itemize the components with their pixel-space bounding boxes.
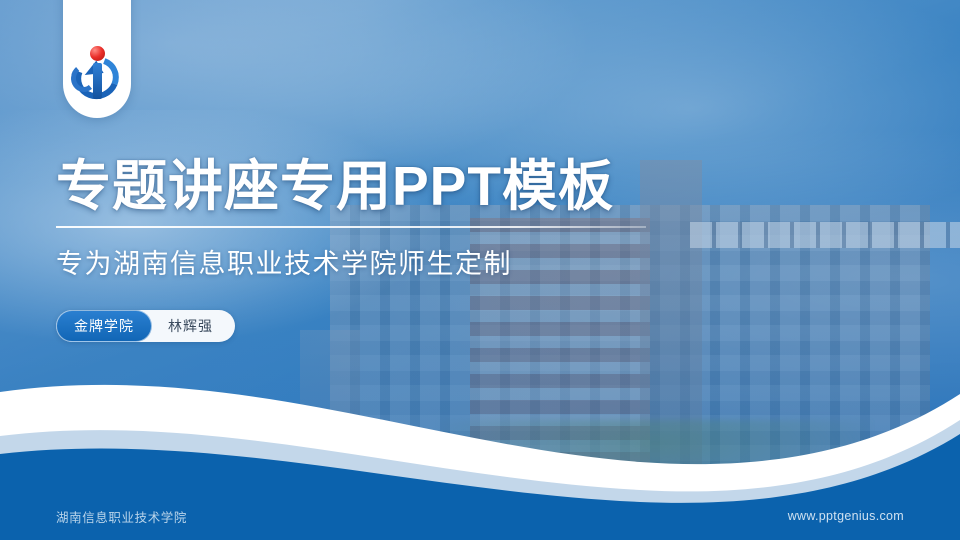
red-sphere-icon	[90, 46, 105, 61]
university-logo-icon	[70, 44, 124, 102]
badge-group: 金牌学院 林辉强	[56, 310, 235, 342]
page-subtitle: 专为湖南信息职业技术学院师生定制	[56, 242, 756, 281]
footer-website: www.pptgenius.com	[788, 509, 904, 523]
page-title: 专题讲座专用PPT模板	[56, 157, 756, 216]
footer: 湖南信息职业技术学院 www.pptgenius.com	[0, 494, 960, 540]
institution-logo-badge	[63, 0, 131, 118]
footer-institution: 湖南信息职业技术学院	[56, 507, 187, 526]
title-divider	[56, 226, 646, 228]
hero-text-block: 专题讲座专用PPT模板 专为湖南信息职业技术学院师生定制	[56, 157, 756, 281]
presentation-title-slide: 专题讲座专用PPT模板 专为湖南信息职业技术学院师生定制 金牌学院 林辉强 湖南…	[0, 0, 960, 540]
badge-secondary[interactable]: 林辉强	[152, 310, 235, 342]
badge-primary[interactable]: 金牌学院	[56, 310, 152, 342]
logo-stem-icon	[93, 63, 102, 99]
